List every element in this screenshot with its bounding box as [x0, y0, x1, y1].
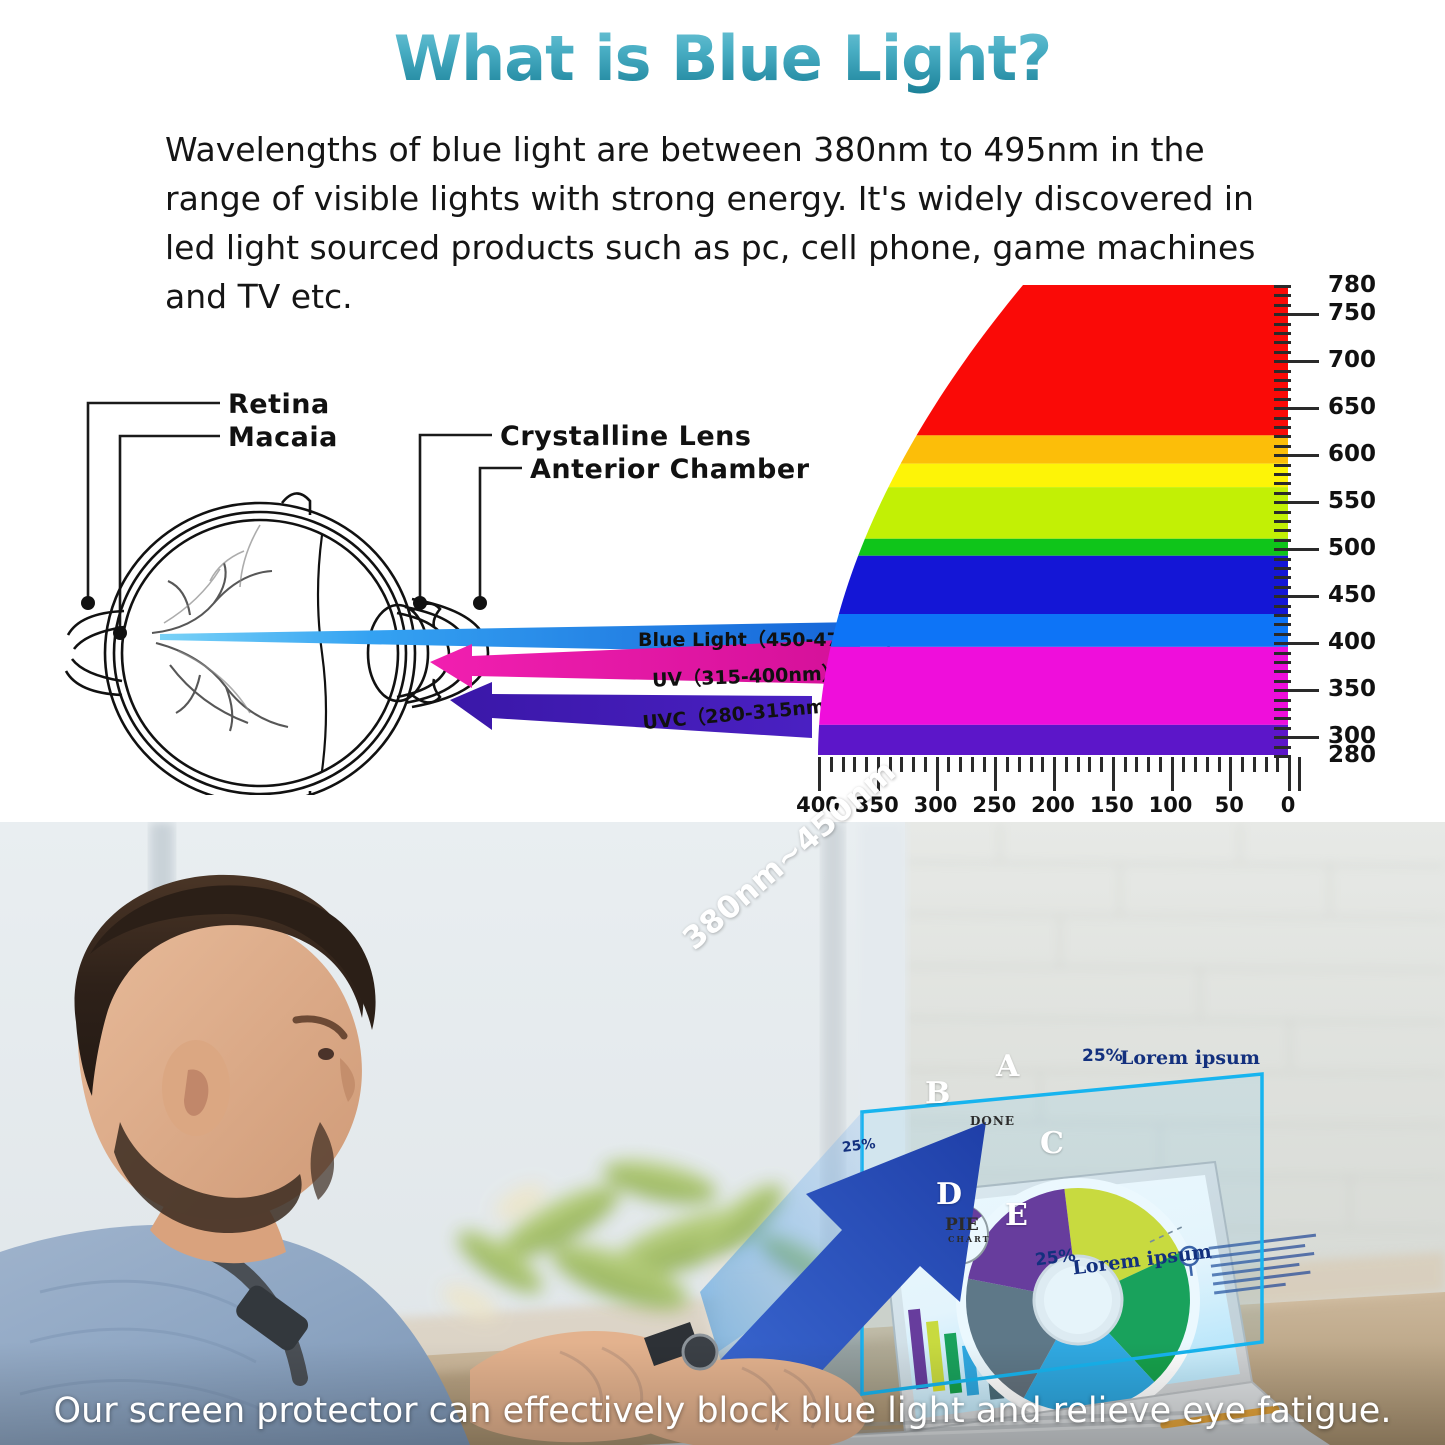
- spectrum-band-yellowgreen: [865, 487, 1288, 539]
- spectrum-chart: [818, 285, 1288, 755]
- intensity-major-tick: [1229, 757, 1232, 791]
- wavelength-tick-label: 700: [1328, 347, 1376, 373]
- intensity-minor-tick: [1030, 757, 1033, 772]
- intensity-minor-tick: [1265, 757, 1268, 772]
- wavelength-minor-tick: [1274, 445, 1291, 448]
- wavelength-tick-label: 280: [1328, 742, 1376, 768]
- intensity-major-tick: [936, 757, 939, 791]
- intensity-minor-tick: [1077, 757, 1080, 772]
- pie-chart-brand-sub: CHART: [948, 1234, 991, 1244]
- spectrum-band-magenta: [819, 647, 1288, 725]
- intensity-minor-tick: [924, 757, 927, 772]
- intensity-minor-tick: [1124, 757, 1127, 772]
- wavelength-minor-tick: [1274, 435, 1291, 438]
- wavelength-minor-tick: [1274, 473, 1291, 476]
- wavelength-tick-label: 450: [1328, 582, 1376, 608]
- wavelength-minor-tick: [1274, 529, 1291, 532]
- wavelength-minor-tick: [1274, 567, 1291, 570]
- intensity-minor-tick: [1159, 757, 1162, 772]
- intensity-end-tick: [1298, 757, 1301, 791]
- wavelength-major-tick: [1274, 689, 1319, 692]
- wavelength-minor-tick: [1274, 332, 1291, 335]
- intensity-minor-tick: [983, 757, 986, 772]
- wavelength-tick-label: 650: [1328, 394, 1376, 420]
- spectrum-band-yellow: [888, 464, 1288, 488]
- wavelength-minor-tick: [1274, 323, 1291, 326]
- intensity-tick-label: 150: [1090, 793, 1134, 817]
- wavelength-major-tick: [1274, 501, 1319, 504]
- wavelength-minor-tick: [1274, 576, 1291, 579]
- intensity-minor-tick: [912, 757, 915, 772]
- intensity-minor-tick: [971, 757, 974, 772]
- intensity-minor-tick: [1147, 757, 1150, 772]
- wavelength-major-tick: [1274, 454, 1319, 457]
- label-anterior-chamber: Anterior Chamber: [530, 454, 810, 485]
- infographic-page: What is Blue Light? Wavelengths of blue …: [0, 0, 1445, 1445]
- wavelength-tick-label: 600: [1328, 441, 1376, 467]
- intensity-major-tick: [1112, 757, 1115, 791]
- intensity-minor-tick: [1194, 757, 1197, 772]
- wavelength-minor-tick: [1274, 699, 1291, 702]
- wavelength-tick-label: 750: [1328, 300, 1376, 326]
- intensity-tick-label: 0: [1281, 793, 1296, 817]
- wavelength-minor-tick: [1274, 341, 1291, 344]
- callout-title-1: Lorem ipsum: [1120, 1047, 1260, 1069]
- wavelength-tick-label: 400: [1328, 629, 1376, 655]
- wavelength-minor-tick: [1274, 652, 1291, 655]
- wavelength-minor-tick: [1274, 482, 1291, 485]
- wavelength-minor-tick: [1274, 294, 1291, 297]
- wavelength-minor-tick: [1274, 304, 1291, 307]
- page-title: What is Blue Light?: [0, 22, 1445, 95]
- wavelength-minor-tick: [1274, 370, 1291, 373]
- wavelength-minor-tick: [1274, 727, 1291, 730]
- intensity-minor-tick: [1276, 757, 1279, 772]
- intensity-major-tick: [1288, 757, 1291, 791]
- wavelength-major-tick: [1274, 313, 1319, 316]
- intensity-minor-tick: [1088, 757, 1091, 772]
- intensity-minor-tick: [1253, 757, 1256, 772]
- pie-chart-brand: PIE: [945, 1215, 979, 1235]
- intensity-minor-tick: [1206, 757, 1209, 772]
- wavelength-minor-tick: [1274, 717, 1291, 720]
- spectrum-bands: [818, 285, 1288, 755]
- wavelength-tick-label: 500: [1328, 535, 1376, 561]
- top-info-section: What is Blue Light? Wavelengths of blue …: [0, 0, 1445, 822]
- intensity-minor-tick: [1241, 757, 1244, 772]
- intensity-tick-label: 50: [1215, 793, 1244, 817]
- wavelength-minor-tick: [1274, 623, 1291, 626]
- spectrum-band-lightblue: [831, 614, 1288, 647]
- bottom-caption: Our screen protector can effectively blo…: [0, 1391, 1445, 1431]
- wavelength-major-tick: [1274, 548, 1319, 551]
- wavelength-minor-tick: [1274, 605, 1291, 608]
- wavelength-minor-tick: [1274, 351, 1291, 354]
- intensity-tick-label: 300: [914, 793, 958, 817]
- pie-slice-label-c: C: [1040, 1126, 1064, 1161]
- wavelength-minor-tick: [1274, 464, 1291, 467]
- wavelength-tick-label: 550: [1328, 488, 1376, 514]
- wavelength-minor-tick: [1274, 680, 1291, 683]
- intensity-tick-label: 250: [972, 793, 1016, 817]
- wavelength-axis-vertical: 780750700650600550500450400350300280: [1272, 282, 1442, 772]
- wavelength-minor-tick: [1274, 633, 1291, 636]
- spectrum-band-violet: [818, 725, 1288, 755]
- wavelength-minor-tick: [1274, 379, 1291, 382]
- wavelength-minor-tick: [1274, 398, 1291, 401]
- intensity-major-tick: [994, 757, 997, 791]
- wavelength-major-tick: [1274, 407, 1319, 410]
- wavelength-minor-tick: [1274, 539, 1291, 542]
- pie-center-done-button[interactable]: DONE: [970, 1114, 1015, 1128]
- wavelength-minor-tick: [1274, 417, 1291, 420]
- intensity-minor-tick: [1218, 757, 1221, 772]
- wavelength-minor-tick: [1274, 661, 1291, 664]
- intensity-minor-tick: [1182, 757, 1185, 772]
- wavelength-tick-label: 350: [1328, 676, 1376, 702]
- pie-slice-label-d: D: [936, 1177, 962, 1212]
- wavelength-tick-label: 780: [1328, 272, 1376, 298]
- intensity-major-tick: [818, 757, 821, 791]
- pie-slice-label-a: A: [996, 1049, 1019, 1084]
- pie-slice-label-e: E: [1005, 1198, 1028, 1233]
- intensity-minor-tick: [1041, 757, 1044, 772]
- intensity-minor-tick: [1018, 757, 1021, 772]
- wavelength-minor-tick: [1274, 388, 1291, 391]
- intensity-minor-tick: [947, 757, 950, 772]
- intensity-minor-tick: [1065, 757, 1068, 772]
- callout-percent-1: 25%: [1082, 1046, 1123, 1066]
- wavelength-minor-tick: [1274, 511, 1291, 514]
- wavelength-minor-tick: [1274, 492, 1291, 495]
- intensity-minor-tick: [830, 757, 833, 772]
- intensity-minor-tick: [959, 757, 962, 772]
- wavelength-minor-tick: [1274, 614, 1291, 617]
- wavelength-minor-tick: [1274, 426, 1291, 429]
- wavelength-minor-tick: [1274, 586, 1291, 589]
- wavelength-minor-tick: [1274, 670, 1291, 673]
- intensity-minor-tick: [853, 757, 856, 772]
- label-macaia: Macaia: [228, 422, 338, 453]
- wavelength-major-tick: [1274, 595, 1319, 598]
- label-crystalline-lens: Crystalline Lens: [500, 421, 751, 452]
- intensity-tick-label: 100: [1149, 793, 1193, 817]
- intensity-major-tick: [1171, 757, 1174, 791]
- spectrum-band-green: [858, 539, 1288, 556]
- spectrum-band-orange: [901, 435, 1288, 463]
- wavelength-major-tick: [1274, 642, 1319, 645]
- wavelength-minor-tick: [1274, 708, 1291, 711]
- label-retina: Retina: [228, 389, 330, 420]
- pie-slice-label-b: B: [925, 1076, 950, 1111]
- intensity-minor-tick: [1006, 757, 1009, 772]
- wavelength-minor-tick: [1274, 558, 1291, 561]
- wavelength-minor-tick: [1274, 746, 1291, 749]
- intensity-minor-tick: [842, 757, 845, 772]
- wavelength-minor-tick: [1274, 285, 1291, 288]
- intensity-major-tick: [1053, 757, 1056, 791]
- wavelength-major-tick: [1274, 736, 1319, 739]
- intensity-minor-tick: [1135, 757, 1138, 772]
- spectrum-band-blue: [839, 556, 1288, 614]
- wavelength-major-tick: [1274, 360, 1319, 363]
- intensity-tick-label: 200: [1031, 793, 1075, 817]
- intensity-minor-tick: [900, 757, 903, 772]
- intensity-minor-tick: [1100, 757, 1103, 772]
- spectrum-band-red: [917, 285, 1288, 435]
- wavelength-minor-tick: [1274, 520, 1291, 523]
